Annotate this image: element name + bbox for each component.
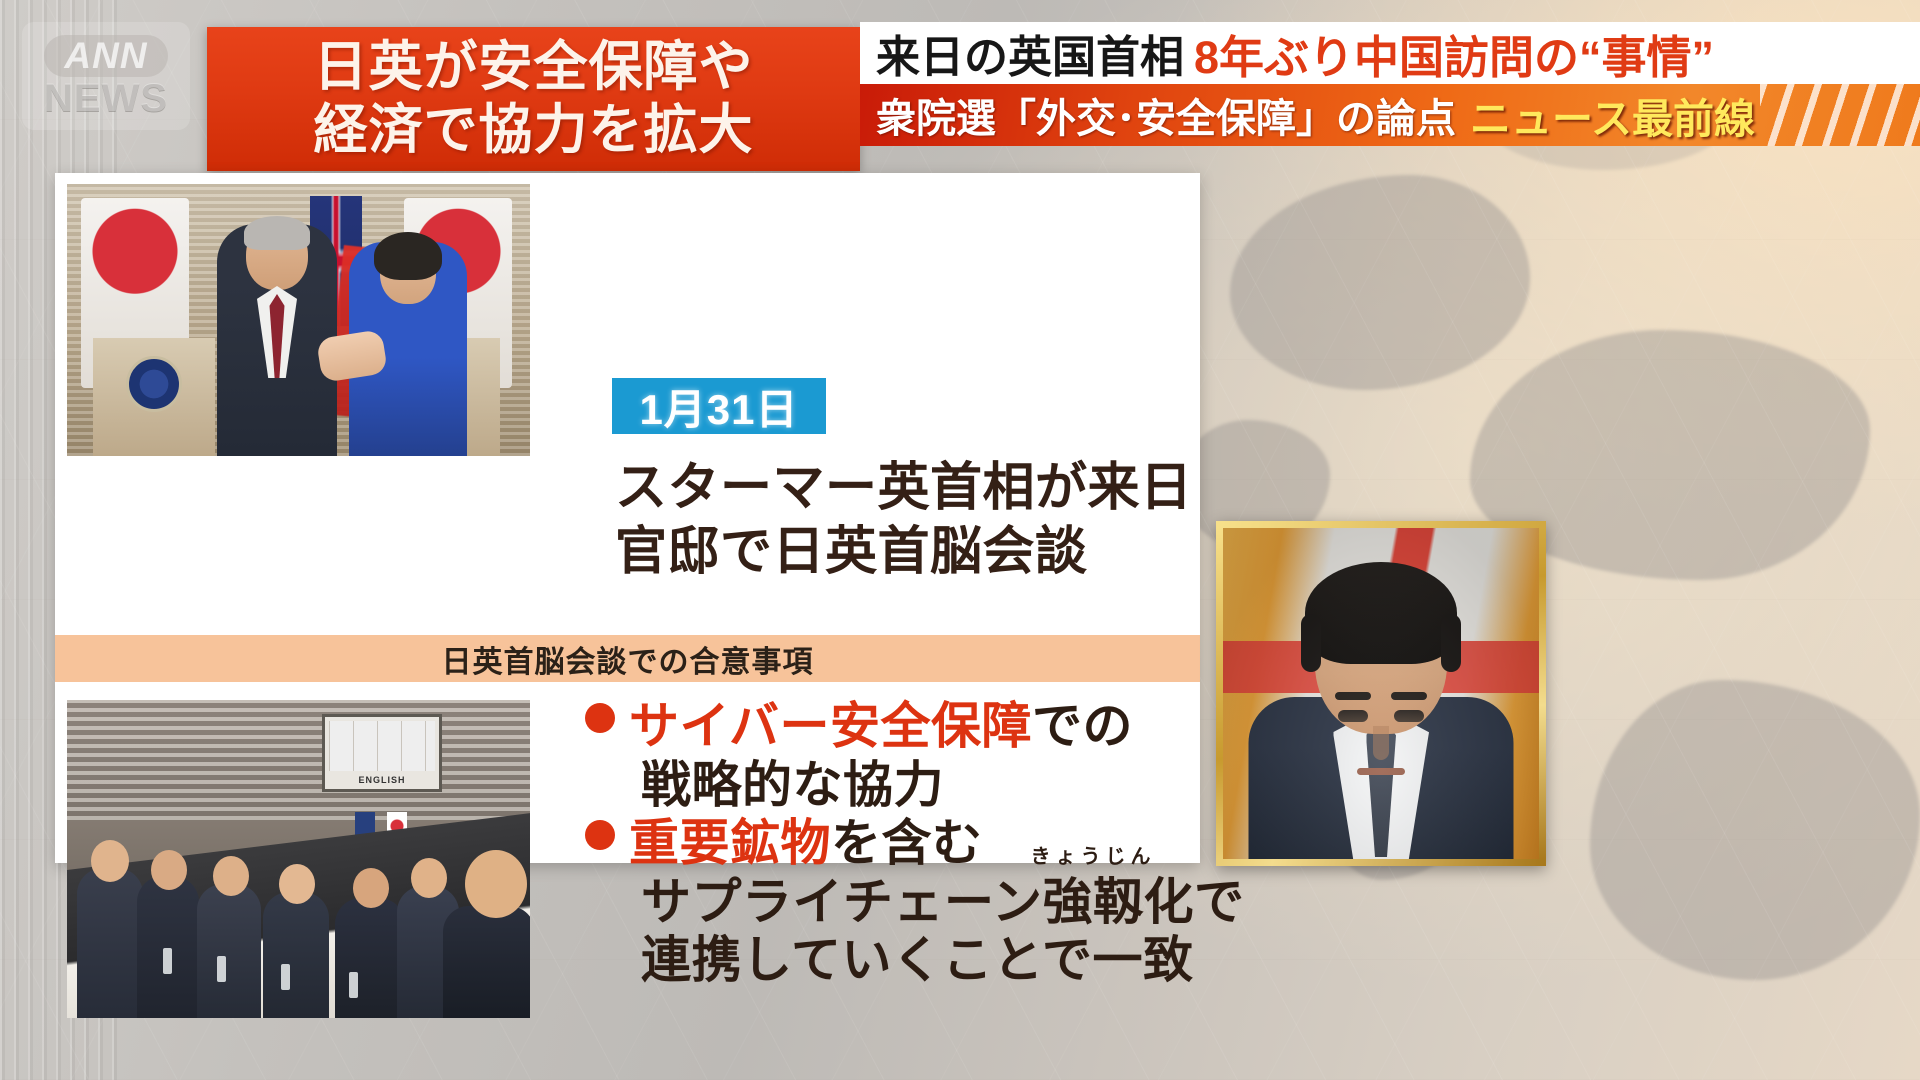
ruby-annotated-word: きょうじん強靱 [1043, 873, 1144, 932]
commentator-nose [1373, 726, 1389, 760]
booth-english-label: ENGLISH [325, 775, 439, 785]
delegate-figure [263, 892, 329, 1018]
diagonal-stripes-decoration [1760, 84, 1920, 146]
main-info-card: 1月31日 スターマー英首相が来日 官邸で日英首脳会談 日英首脳会談での合意事項… [55, 173, 1200, 863]
delegate-figure [77, 868, 143, 1018]
japan-uk-summit-roundtable-photo: ENGLISH [67, 700, 530, 1018]
bullet-dot-icon [585, 703, 615, 733]
lead-text-block: スターマー英首相が来日 官邸で日英首脳会談 [615, 457, 1245, 585]
main-headline-banner: 日英が安全保障や 経済で協力を拡大 [207, 27, 860, 171]
delegate-head-foreground [465, 850, 527, 918]
commentator-eyebrow-left [1391, 692, 1427, 700]
section-header-label: 日英首脳会談での合意事項 [442, 637, 814, 681]
water-bottle [349, 972, 358, 998]
agreement-bullet-list: サイバー安全保障での 戦略的な協力 重要鉱物を含む サプライチェーンきょうじん強… [585, 697, 1250, 990]
program-topic-banner: 来日の英国首相 8年ぶり中国訪問の“事情” 衆院選「外交･安全保障」の論点 ニュ… [860, 22, 1920, 146]
commentator-mouth [1357, 768, 1405, 775]
delegate-head [213, 856, 249, 896]
commentator-eye-right [1338, 710, 1368, 722]
bullet-item-2-continuation-a: サプライチェーンきょうじん強靱化で [585, 873, 1250, 932]
uk-prime-minister-figure [217, 224, 337, 456]
commentator-eyebrow-right [1335, 692, 1371, 700]
bullet-item-1-continuation: 戦略的な協力 [585, 756, 1250, 815]
ann-logo-text: ANN [44, 35, 167, 78]
headline-line-1: 日英が安全保障や [314, 36, 754, 99]
delegate-figure [197, 884, 261, 1018]
topic-primary-black-text: 来日の英国首相 [876, 22, 1184, 84]
map-landmass-shape [1230, 175, 1530, 390]
bullet-2-pre: サプライチェーン [641, 874, 1043, 930]
bullet-1-highlight: サイバー安全保障 [629, 698, 1032, 754]
water-bottle [163, 948, 172, 974]
delegate-figure-foreground [443, 906, 530, 1018]
commentator-hair [1305, 562, 1457, 664]
program-title-text: ニュース最前線 [1470, 85, 1755, 145]
commentator-video-inset [1216, 521, 1546, 866]
news-logo-text: NEWS [44, 79, 168, 117]
date-badge-label: 1月31日 [639, 376, 798, 437]
bullet-2-post: 化で [1144, 874, 1245, 930]
topic-banner-row-secondary: 衆院選「外交･安全保障」の論点 ニュース最前線 [860, 84, 1920, 146]
topic-secondary-white-text: 衆院選「外交･安全保障」の論点 [876, 86, 1456, 144]
map-landmass-shape [1590, 680, 1920, 980]
delegate-head [411, 858, 447, 898]
delegate-head [279, 864, 315, 904]
commentator-eye-left [1394, 710, 1424, 722]
topic-primary-red-text: 8年ぶり中国訪問の“事情” [1194, 22, 1714, 84]
figure-hair [374, 232, 442, 280]
figure-hair [244, 216, 310, 250]
delegate-head [353, 868, 389, 908]
japan-uk-leaders-handshake-photo [67, 184, 530, 456]
booth-glass [329, 721, 435, 771]
section-header-bar: 日英首脳会談での合意事項 [55, 635, 1200, 682]
topic-banner-row-primary: 来日の英国首相 8年ぶり中国訪問の“事情” [860, 22, 1920, 84]
bullet-item-1-primary: サイバー安全保障での [585, 697, 1250, 756]
bullet-item-2-continuation-b: 連携していくことで一致 [585, 931, 1250, 990]
delegate-head [151, 850, 187, 890]
delegate-head [91, 840, 129, 882]
water-bottle [281, 964, 290, 990]
interpreter-booth: ENGLISH [322, 714, 442, 792]
delegate-figure [335, 898, 405, 1018]
photo-background-wall [67, 700, 530, 820]
bullet-1-rest: での [1032, 698, 1133, 754]
furigana-reading: きょうじん [1031, 846, 1156, 869]
bullet-2-highlight: 重要鉱物 [629, 815, 831, 871]
water-bottle [217, 956, 226, 982]
ruby-base-word: 強靱 [1043, 874, 1144, 930]
bullet-dot-icon [585, 820, 615, 850]
date-badge: 1月31日 [612, 378, 826, 434]
ann-news-logo-watermark: ANN NEWS [22, 22, 190, 130]
headline-line-2: 経済で協力を拡大 [314, 99, 754, 162]
bullet-2-rest: を含む [831, 815, 983, 871]
lead-text-line-2: 官邸で日英首脳会談 [615, 521, 1245, 585]
lead-text-line-1: スターマー英首相が来日 [615, 457, 1245, 521]
government-seal-emblem [126, 356, 182, 412]
podium-left [93, 338, 215, 456]
delegate-figure [137, 876, 199, 1018]
